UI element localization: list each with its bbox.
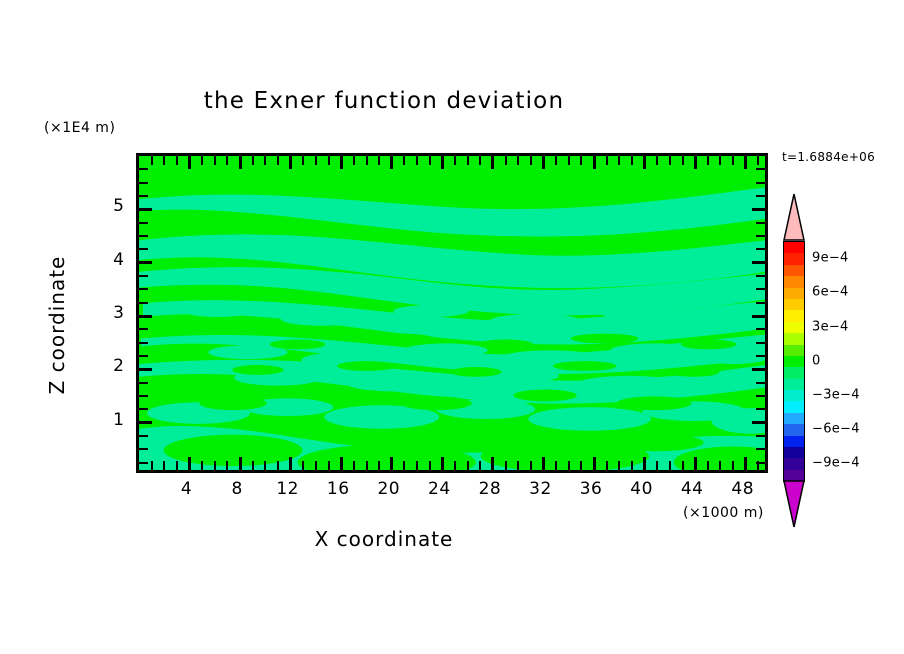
x-tick-label: 24 [428, 479, 451, 499]
x-tick-label: 40 [630, 479, 653, 499]
x-axis-tick [151, 461, 153, 470]
x-axis-tick [732, 461, 734, 470]
x-axis-tick [378, 156, 380, 165]
colorbar-tick-label: 0 [812, 353, 821, 368]
x-axis-tick [188, 457, 191, 470]
x-axis-tick [744, 457, 747, 470]
x-axis-tick [694, 457, 697, 470]
x-axis-tick [719, 461, 721, 470]
x-axis-tick [643, 457, 646, 470]
timestamp-label: t=1.6884e+06 [782, 150, 875, 164]
colorbar-tick-label: −9e−4 [812, 456, 860, 471]
x-axis-tick [403, 461, 405, 470]
y-axis-tick [752, 315, 765, 318]
x-tick-label: 36 [580, 479, 603, 499]
y-axis-tick [756, 288, 765, 290]
x-axis-tick [505, 156, 507, 165]
x-axis-tick [390, 457, 393, 470]
y-axis-tick [139, 355, 148, 357]
x-axis-tick [479, 461, 481, 470]
x-axis-tick [530, 156, 532, 165]
x-axis-tick [302, 461, 304, 470]
x-axis-tick [353, 156, 355, 165]
x-axis-tick [618, 461, 620, 470]
x-axis-tick [201, 156, 203, 165]
y-axis-tick [139, 235, 148, 237]
x-axis-tick [264, 156, 266, 165]
x-axis-tick [302, 156, 304, 165]
y-axis-tick [139, 222, 148, 224]
x-axis-tick [732, 156, 734, 165]
y-axis-tick [756, 395, 765, 397]
y-axis-tick [139, 302, 148, 304]
x-axis-tick [707, 156, 709, 165]
x-axis-tick [252, 156, 254, 165]
x-axis-tick [315, 156, 317, 165]
x-axis-tick [454, 461, 456, 470]
x-tick-label: 8 [231, 479, 242, 499]
x-axis-tick [366, 156, 368, 165]
colorbar-tick-label: 6e−4 [812, 285, 849, 300]
y-tick-label: 4 [100, 250, 124, 270]
x-axis-tick [618, 156, 620, 165]
x-axis-tick [744, 156, 747, 169]
y-axis-tick [756, 182, 765, 184]
x-axis-tick [416, 461, 418, 470]
y-axis-tick [139, 421, 152, 424]
y-axis-tick [139, 288, 148, 290]
x-axis-tick [277, 461, 279, 470]
x-axis-tick [542, 457, 545, 470]
x-axis-tick [176, 156, 178, 165]
x-axis-tick [568, 156, 570, 165]
x-axis-tick [188, 156, 191, 169]
y-tick-label: 1 [100, 410, 124, 430]
x-axis-tick [289, 156, 292, 169]
x-axis-tick [467, 461, 469, 470]
y-axis-tick [756, 248, 765, 250]
y-axis-tick [756, 302, 765, 304]
colorbar-over-arrow [783, 193, 805, 245]
x-axis-tick [264, 461, 266, 470]
x-axis-tick [606, 461, 608, 470]
x-axis-tick [390, 156, 393, 169]
x-axis-tick [163, 156, 165, 165]
y-axis-tick [139, 328, 148, 330]
y-axis-tick [139, 382, 148, 384]
x-axis-tick [403, 156, 405, 165]
x-axis-tick [656, 461, 658, 470]
x-axis-tick [669, 461, 671, 470]
colorbar-tick-label: 9e−4 [812, 251, 849, 266]
y-axis-tick [756, 195, 765, 197]
y-axis-tick [139, 448, 148, 450]
colorbar-tick-label: −6e−4 [812, 422, 860, 437]
y-axis-tick [752, 421, 765, 424]
x-axis-tick [643, 156, 646, 169]
y-axis-tick [752, 368, 765, 371]
x-tick-label: 16 [327, 479, 350, 499]
x-axis-tick [682, 461, 684, 470]
x-axis-tick [239, 457, 242, 470]
x-axis-tick [555, 156, 557, 165]
y-axis-tick [139, 368, 152, 371]
colorbar-tick-label: 3e−4 [812, 319, 849, 334]
y-tick-label: 5 [100, 196, 124, 216]
x-axis-tick [328, 156, 330, 165]
x-axis-tick [631, 156, 633, 165]
x-axis-tick [555, 461, 557, 470]
x-axis-tick [568, 461, 570, 470]
y-axis-tick [139, 261, 152, 264]
x-axis-tick [328, 461, 330, 470]
x-axis-tick [353, 461, 355, 470]
x-tick-label: 28 [479, 479, 502, 499]
x-tick-label: 44 [681, 479, 704, 499]
y-axis-tick [139, 395, 148, 397]
y-axis-title: Z coordinate [45, 235, 69, 415]
x-axis-tick [530, 461, 532, 470]
x-axis-tick [176, 461, 178, 470]
contour-field-svg [139, 156, 765, 470]
x-axis-tick [580, 156, 582, 165]
x-axis-tick [631, 461, 633, 470]
x-axis-tick [151, 156, 153, 165]
x-axis-tick [214, 156, 216, 165]
x-axis-tick [606, 156, 608, 165]
x-axis-tick [340, 457, 343, 470]
y-axis-tick [756, 408, 765, 410]
y-axis-tick [752, 208, 765, 211]
colorbar-bands [783, 241, 803, 482]
colorbar: 9e−46e−43e−40−3e−4−6e−4−9e−4 [776, 196, 904, 526]
x-axis-tick [226, 461, 228, 470]
x-axis-tick [491, 156, 494, 169]
y-axis-tick [139, 435, 148, 437]
x-tick-label: 20 [377, 479, 400, 499]
y-axis-tick [752, 261, 765, 264]
x-axis-tick [201, 461, 203, 470]
x-axis-tick [214, 461, 216, 470]
y-axis-tick [139, 462, 148, 464]
y-axis-tick [139, 342, 148, 344]
chart-title: the Exner function deviation [0, 88, 768, 114]
x-axis-tick [226, 156, 228, 165]
x-axis-tick [517, 156, 519, 165]
y-axis-tick [756, 448, 765, 450]
y-axis-tick [756, 342, 765, 344]
y-axis-tick [139, 208, 152, 211]
x-axis-tick [656, 156, 658, 165]
y-tick-label: 3 [100, 303, 124, 323]
x-axis-tick [277, 156, 279, 165]
x-axis-tick [757, 156, 759, 165]
x-axis-tick [479, 156, 481, 165]
y-axis-tick [756, 235, 765, 237]
y-axis-tick [756, 355, 765, 357]
y-tick-label: 2 [100, 356, 124, 376]
y-axis-tick [139, 408, 148, 410]
y-axis-tick [756, 222, 765, 224]
y-axis-tick [139, 182, 148, 184]
x-axis-tick [517, 461, 519, 470]
x-axis-tick [340, 156, 343, 169]
x-axis-tick [593, 457, 596, 470]
x-tick-label: 12 [276, 479, 299, 499]
y-axis-tick [139, 248, 148, 250]
chart-root: the Exner function deviation (×1E4 m) t=… [0, 0, 904, 654]
x-tick-label: 48 [731, 479, 754, 499]
x-axis-tick [467, 156, 469, 165]
y-axis-tick [139, 315, 152, 318]
x-axis-tick [441, 156, 444, 169]
x-axis-tick [429, 156, 431, 165]
x-axis-tick [542, 156, 545, 169]
x-axis-tick [694, 156, 697, 169]
x-axis-tick [239, 156, 242, 169]
x-axis-title: X coordinate [0, 527, 768, 551]
contour-field [139, 156, 765, 470]
x-axis-tick [429, 461, 431, 470]
contour-plot-area [136, 153, 768, 473]
x-tick-label: 32 [529, 479, 552, 499]
x-axis-tick [580, 461, 582, 470]
x-axis-tick [593, 156, 596, 169]
x-axis-tick [505, 461, 507, 470]
x-axis-tick [454, 156, 456, 165]
x-axis-tick [378, 461, 380, 470]
x-axis-tick [416, 156, 418, 165]
x-tick-label: 4 [181, 479, 192, 499]
x-axis-tick [682, 156, 684, 165]
y-axis-tick [756, 275, 765, 277]
y-axis-tick [756, 462, 765, 464]
y-axis-tick [139, 275, 148, 277]
x-axis-tick [315, 461, 317, 470]
colorbar-under-arrow [783, 480, 805, 532]
y-axis-tick [139, 168, 148, 170]
y-axis-tick [756, 328, 765, 330]
y-axis-tick [139, 195, 148, 197]
y-axis-unit-label: (×1E4 m) [44, 120, 115, 136]
x-axis-tick [719, 156, 721, 165]
y-axis-tick [756, 382, 765, 384]
x-axis-tick [252, 461, 254, 470]
y-axis-tick [756, 435, 765, 437]
colorbar-tick-label: −3e−4 [812, 387, 860, 402]
x-axis-tick [669, 156, 671, 165]
y-axis-tick [756, 168, 765, 170]
x-axis-tick [163, 461, 165, 470]
x-axis-tick [289, 457, 292, 470]
x-axis-tick [366, 461, 368, 470]
x-axis-tick [491, 457, 494, 470]
x-axis-tick [707, 461, 709, 470]
x-axis-tick [441, 457, 444, 470]
x-axis-unit-label: (×1000 m) [683, 505, 764, 521]
